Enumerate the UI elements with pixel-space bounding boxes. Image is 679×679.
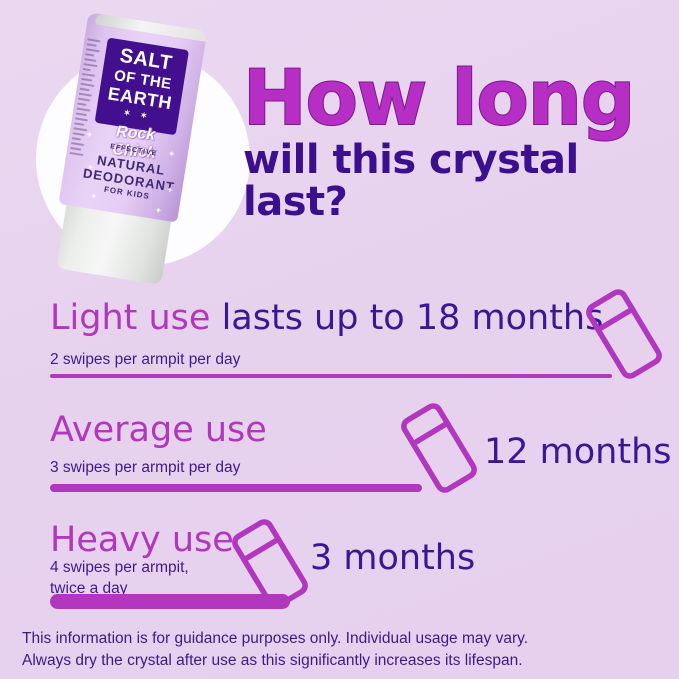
deodorant-stick-icon (582, 286, 666, 382)
row-title: Average use (50, 410, 267, 450)
row-title: Heavy use (50, 520, 234, 560)
usage-rows: Light use lasts up to 18 months 2 swipes… (0, 288, 679, 618)
sparkle-icon: ✦ (89, 191, 98, 203)
disclaimer-text: This information is for guidance purpose… (22, 628, 666, 673)
row-duration-label: 3 months (310, 538, 475, 578)
row-duration-bar (50, 374, 612, 378)
row-subtitle: 3 swipes per armpit per day (50, 458, 240, 479)
headline-line-1: How long (243, 62, 673, 135)
row-title-highlight: Heavy use (50, 520, 234, 560)
row-duration-bar (50, 484, 422, 492)
row-title-highlight: Light use (50, 298, 210, 338)
sparkle-icon: ✦ (85, 129, 94, 141)
sparkle-icon: ✦ (167, 148, 176, 160)
headline-block: How long will this crystal last? (243, 62, 673, 223)
sparkle-icon: ✦ (154, 205, 163, 217)
usage-row-average-use: Average use 3 swipes per armpit per day … (0, 396, 679, 506)
brand-logo-box: SALT OF THE EARTH ✶ ✶ (95, 38, 189, 136)
infographic-root: SALT OF THE EARTH ✶ ✶ Rock Chick EFFECTI… (0, 0, 679, 679)
headline-line-2: will this crystal last? (243, 139, 673, 223)
row-duration-label: 12 months (484, 432, 672, 472)
row-subtitle: 2 swipes per armpit per day (50, 350, 240, 371)
deodorant-stick-icon (228, 516, 312, 612)
sparkle-icon: ✦ (165, 185, 174, 197)
deodorant-stick-icon (397, 400, 481, 496)
sparkle-icon: ✦ (86, 162, 95, 174)
row-title: Light use lasts up to 18 months (50, 298, 603, 338)
hero-section: SALT OF THE EARTH ✶ ✶ Rock Chick EFFECTI… (0, 0, 679, 288)
usage-row-heavy-use: Heavy use 4 swipes per armpit, twice a d… (0, 506, 679, 618)
row-title-highlight: Average use (50, 410, 267, 450)
usage-row-light-use: Light use lasts up to 18 months 2 swipes… (0, 288, 679, 396)
row-title-rest: lasts up to 18 months (210, 298, 603, 338)
bottle-label-body: SALT OF THE EARTH ✶ ✶ Rock Chick EFFECTI… (58, 12, 207, 222)
